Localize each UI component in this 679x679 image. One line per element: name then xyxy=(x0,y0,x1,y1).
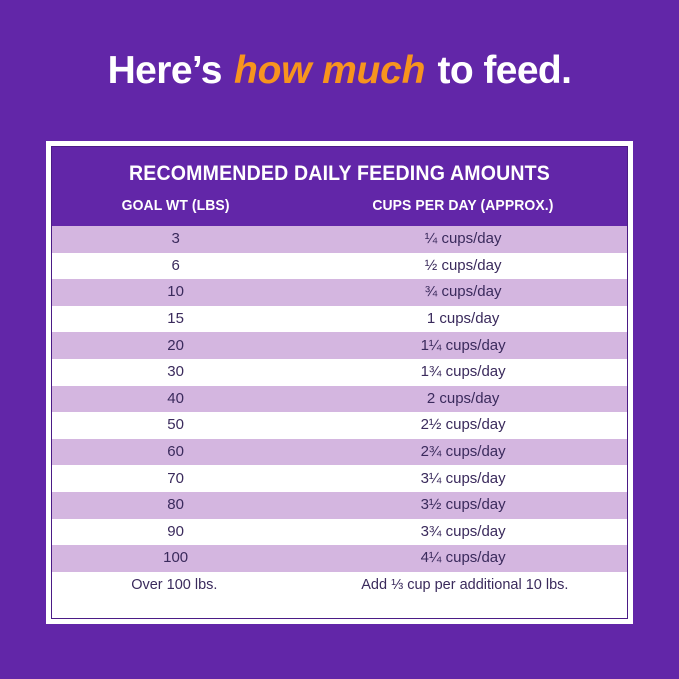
cell-goal-weight: 6 xyxy=(52,253,299,279)
cell-cups-per-day: 1 cups/day xyxy=(299,306,627,332)
cell-goal-weight: 80 xyxy=(52,492,299,518)
table-row: 90 3¾ cups/day xyxy=(52,519,627,546)
cell-goal-weight: 50 xyxy=(52,412,299,438)
column-header-cups-per-day: CUPS PER DAY (APPROX.) xyxy=(311,196,616,216)
table-row: 15 1 cups/day xyxy=(52,306,627,333)
table-body: 3 ¼ cups/day 6 ½ cups/day 10 ¾ cups/day … xyxy=(52,226,627,598)
table-row: 6 ½ cups/day xyxy=(52,253,627,280)
cell-goal-weight: 40 xyxy=(52,386,299,412)
table-row: 50 2½ cups/day xyxy=(52,412,627,439)
page-headline: Here’s how much to feed. xyxy=(0,48,679,94)
cell-cups-per-day: 1¼ cups/day xyxy=(299,333,627,359)
cell-cups-per-day: Add ⅓ cup per additional 10 lbs. xyxy=(303,572,627,598)
column-header-goal-weight: GOAL WT (LBS) xyxy=(61,196,291,216)
table-row: Over 100 lbs. Add ⅓ cup per additional 1… xyxy=(52,572,627,599)
table-row: 80 3½ cups/day xyxy=(52,492,627,519)
table-row: 60 2¾ cups/day xyxy=(52,439,627,466)
cell-goal-weight: Over 100 lbs. xyxy=(52,572,303,598)
cell-cups-per-day: ¾ cups/day xyxy=(299,279,627,305)
cell-cups-per-day: ½ cups/day xyxy=(299,253,627,279)
table-row: 70 3¼ cups/day xyxy=(52,465,627,492)
cell-cups-per-day: 3¼ cups/day xyxy=(299,466,627,492)
cell-cups-per-day: 2½ cups/day xyxy=(299,412,627,438)
cell-goal-weight: 70 xyxy=(52,466,299,492)
cell-cups-per-day: 3½ cups/day xyxy=(299,492,627,518)
cell-cups-per-day: 2¾ cups/day xyxy=(299,439,627,465)
cell-goal-weight: 60 xyxy=(52,439,299,465)
table-title: RECOMMENDED DAILY FEEDING AMOUNTS xyxy=(72,161,607,187)
feeding-table: RECOMMENDED DAILY FEEDING AMOUNTS GOAL W… xyxy=(51,146,628,619)
table-row: 3 ¼ cups/day xyxy=(52,226,627,253)
cell-cups-per-day: 1¾ cups/day xyxy=(299,359,627,385)
cell-cups-per-day: ¼ cups/day xyxy=(299,226,627,252)
table-column-headers: GOAL WT (LBS) CUPS PER DAY (APPROX.) xyxy=(52,196,627,216)
table-row: 10 ¾ cups/day xyxy=(52,279,627,306)
cell-goal-weight: 30 xyxy=(52,359,299,385)
table-header-block: RECOMMENDED DAILY FEEDING AMOUNTS GOAL W… xyxy=(52,147,627,226)
cell-goal-weight: 15 xyxy=(52,306,299,332)
cell-goal-weight: 90 xyxy=(52,519,299,545)
table-row: 40 2 cups/day xyxy=(52,386,627,413)
cell-cups-per-day: 3¾ cups/day xyxy=(299,519,627,545)
cell-goal-weight: 3 xyxy=(52,226,299,252)
cell-goal-weight: 100 xyxy=(52,545,299,571)
headline-lead: Here’s xyxy=(108,49,232,92)
headline-tail: to feed. xyxy=(427,49,571,92)
cell-goal-weight: 10 xyxy=(52,279,299,305)
cell-goal-weight: 20 xyxy=(52,333,299,359)
table-row: 30 1¾ cups/day xyxy=(52,359,627,386)
cell-cups-per-day: 4¼ cups/day xyxy=(299,545,627,571)
cell-cups-per-day: 2 cups/day xyxy=(299,386,627,412)
table-row: 20 1¼ cups/day xyxy=(52,332,627,359)
table-row: 100 4¼ cups/day xyxy=(52,545,627,572)
headline-accent: how much xyxy=(232,49,427,92)
feeding-chart-page: Here’s how much to feed. RECOMMENDED DAI… xyxy=(0,0,679,679)
feeding-table-card: RECOMMENDED DAILY FEEDING AMOUNTS GOAL W… xyxy=(46,141,633,624)
